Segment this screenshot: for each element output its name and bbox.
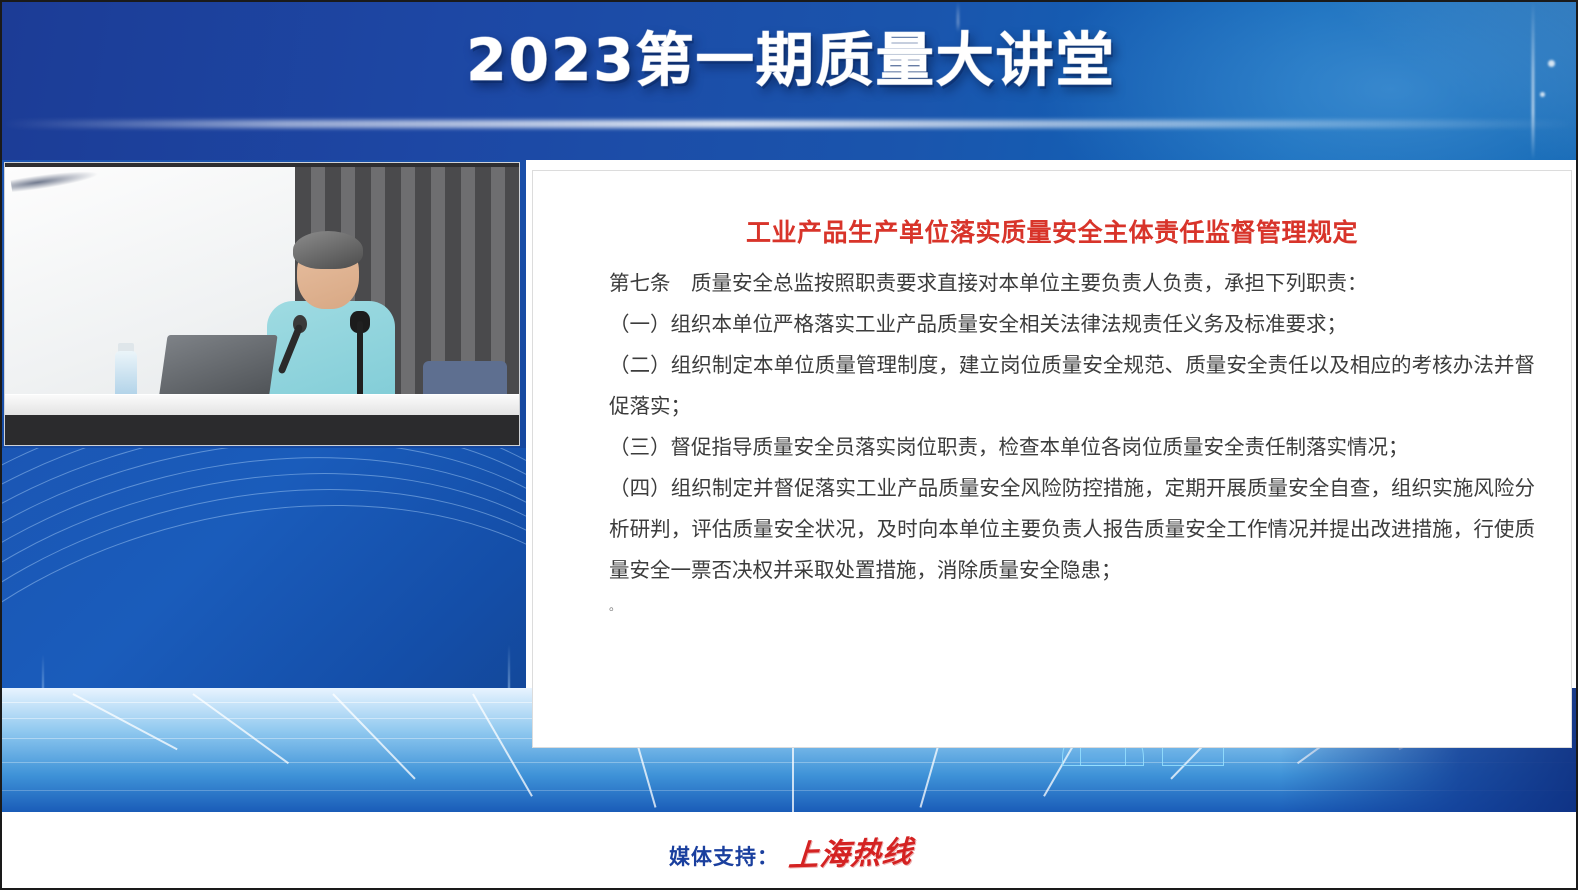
speaker-hair: [293, 231, 363, 269]
content-board: 王煜伟 工业产品生产单位落实质量安全主体责任监督管理规定 第七条 质量安全总监按…: [2, 160, 1578, 812]
header-banner: 2023第一期质量大讲堂: [2, 2, 1578, 160]
desk-top: [5, 394, 519, 415]
desk-front: [5, 415, 519, 445]
slide-title: 工业产品生产单位落实质量安全主体责任监督管理规定: [533, 171, 1571, 249]
slide-paragraph-item-1: （一）组织本单位严格落实工业产品质量安全相关法律法规责任义务及标准要求；: [609, 304, 1535, 345]
media-partner-logo: 上海热线: [787, 827, 914, 875]
slide-trailing-period: 。: [609, 591, 1535, 621]
slide-body: 第七条 质量安全总监按照职责要求直接对本单位主要负责人负责，承担下列职责： （一…: [533, 249, 1571, 621]
header-sheen-line: [2, 120, 1578, 128]
screen-ink-mark: [10, 167, 99, 193]
broadcast-stage: 2023第一期质量大讲堂: [0, 0, 1578, 890]
footer-bar: 媒体支持： 上海热线: [2, 812, 1578, 890]
slide-paragraph-item-3: （三）督促指导质量安全员落实岗位职责，检查本单位各岗位质量安全责任制落实情况；: [609, 427, 1535, 468]
slide-paragraph-article7: 第七条 质量安全总监按照职责要求直接对本单位主要负责人负责，承担下列职责：: [609, 263, 1535, 304]
presentation-slide[interactable]: 工业产品生产单位落实质量安全主体责任监督管理规定 第七条 质量安全总监按照职责要…: [532, 170, 1572, 748]
media-support-credit: 媒体支持： 上海热线: [669, 829, 913, 873]
slide-paragraph-item-4: （四）组织制定并督促落实工业产品质量安全风险防控措施，定期开展质量安全自查，组织…: [609, 468, 1535, 591]
laptop: [158, 335, 277, 401]
header-sparkle-dot: [1540, 92, 1545, 97]
microphone-stand: [357, 321, 363, 397]
speaker-video-tile[interactable]: 王煜伟: [4, 162, 520, 446]
media-support-label: 媒体支持：: [669, 841, 779, 871]
event-title: 2023第一期质量大讲堂: [2, 30, 1578, 91]
slide-paragraph-item-2: （二）组织制定本单位质量管理制度，建立岗位质量安全规范、质量安全责任以及相应的考…: [609, 345, 1535, 427]
